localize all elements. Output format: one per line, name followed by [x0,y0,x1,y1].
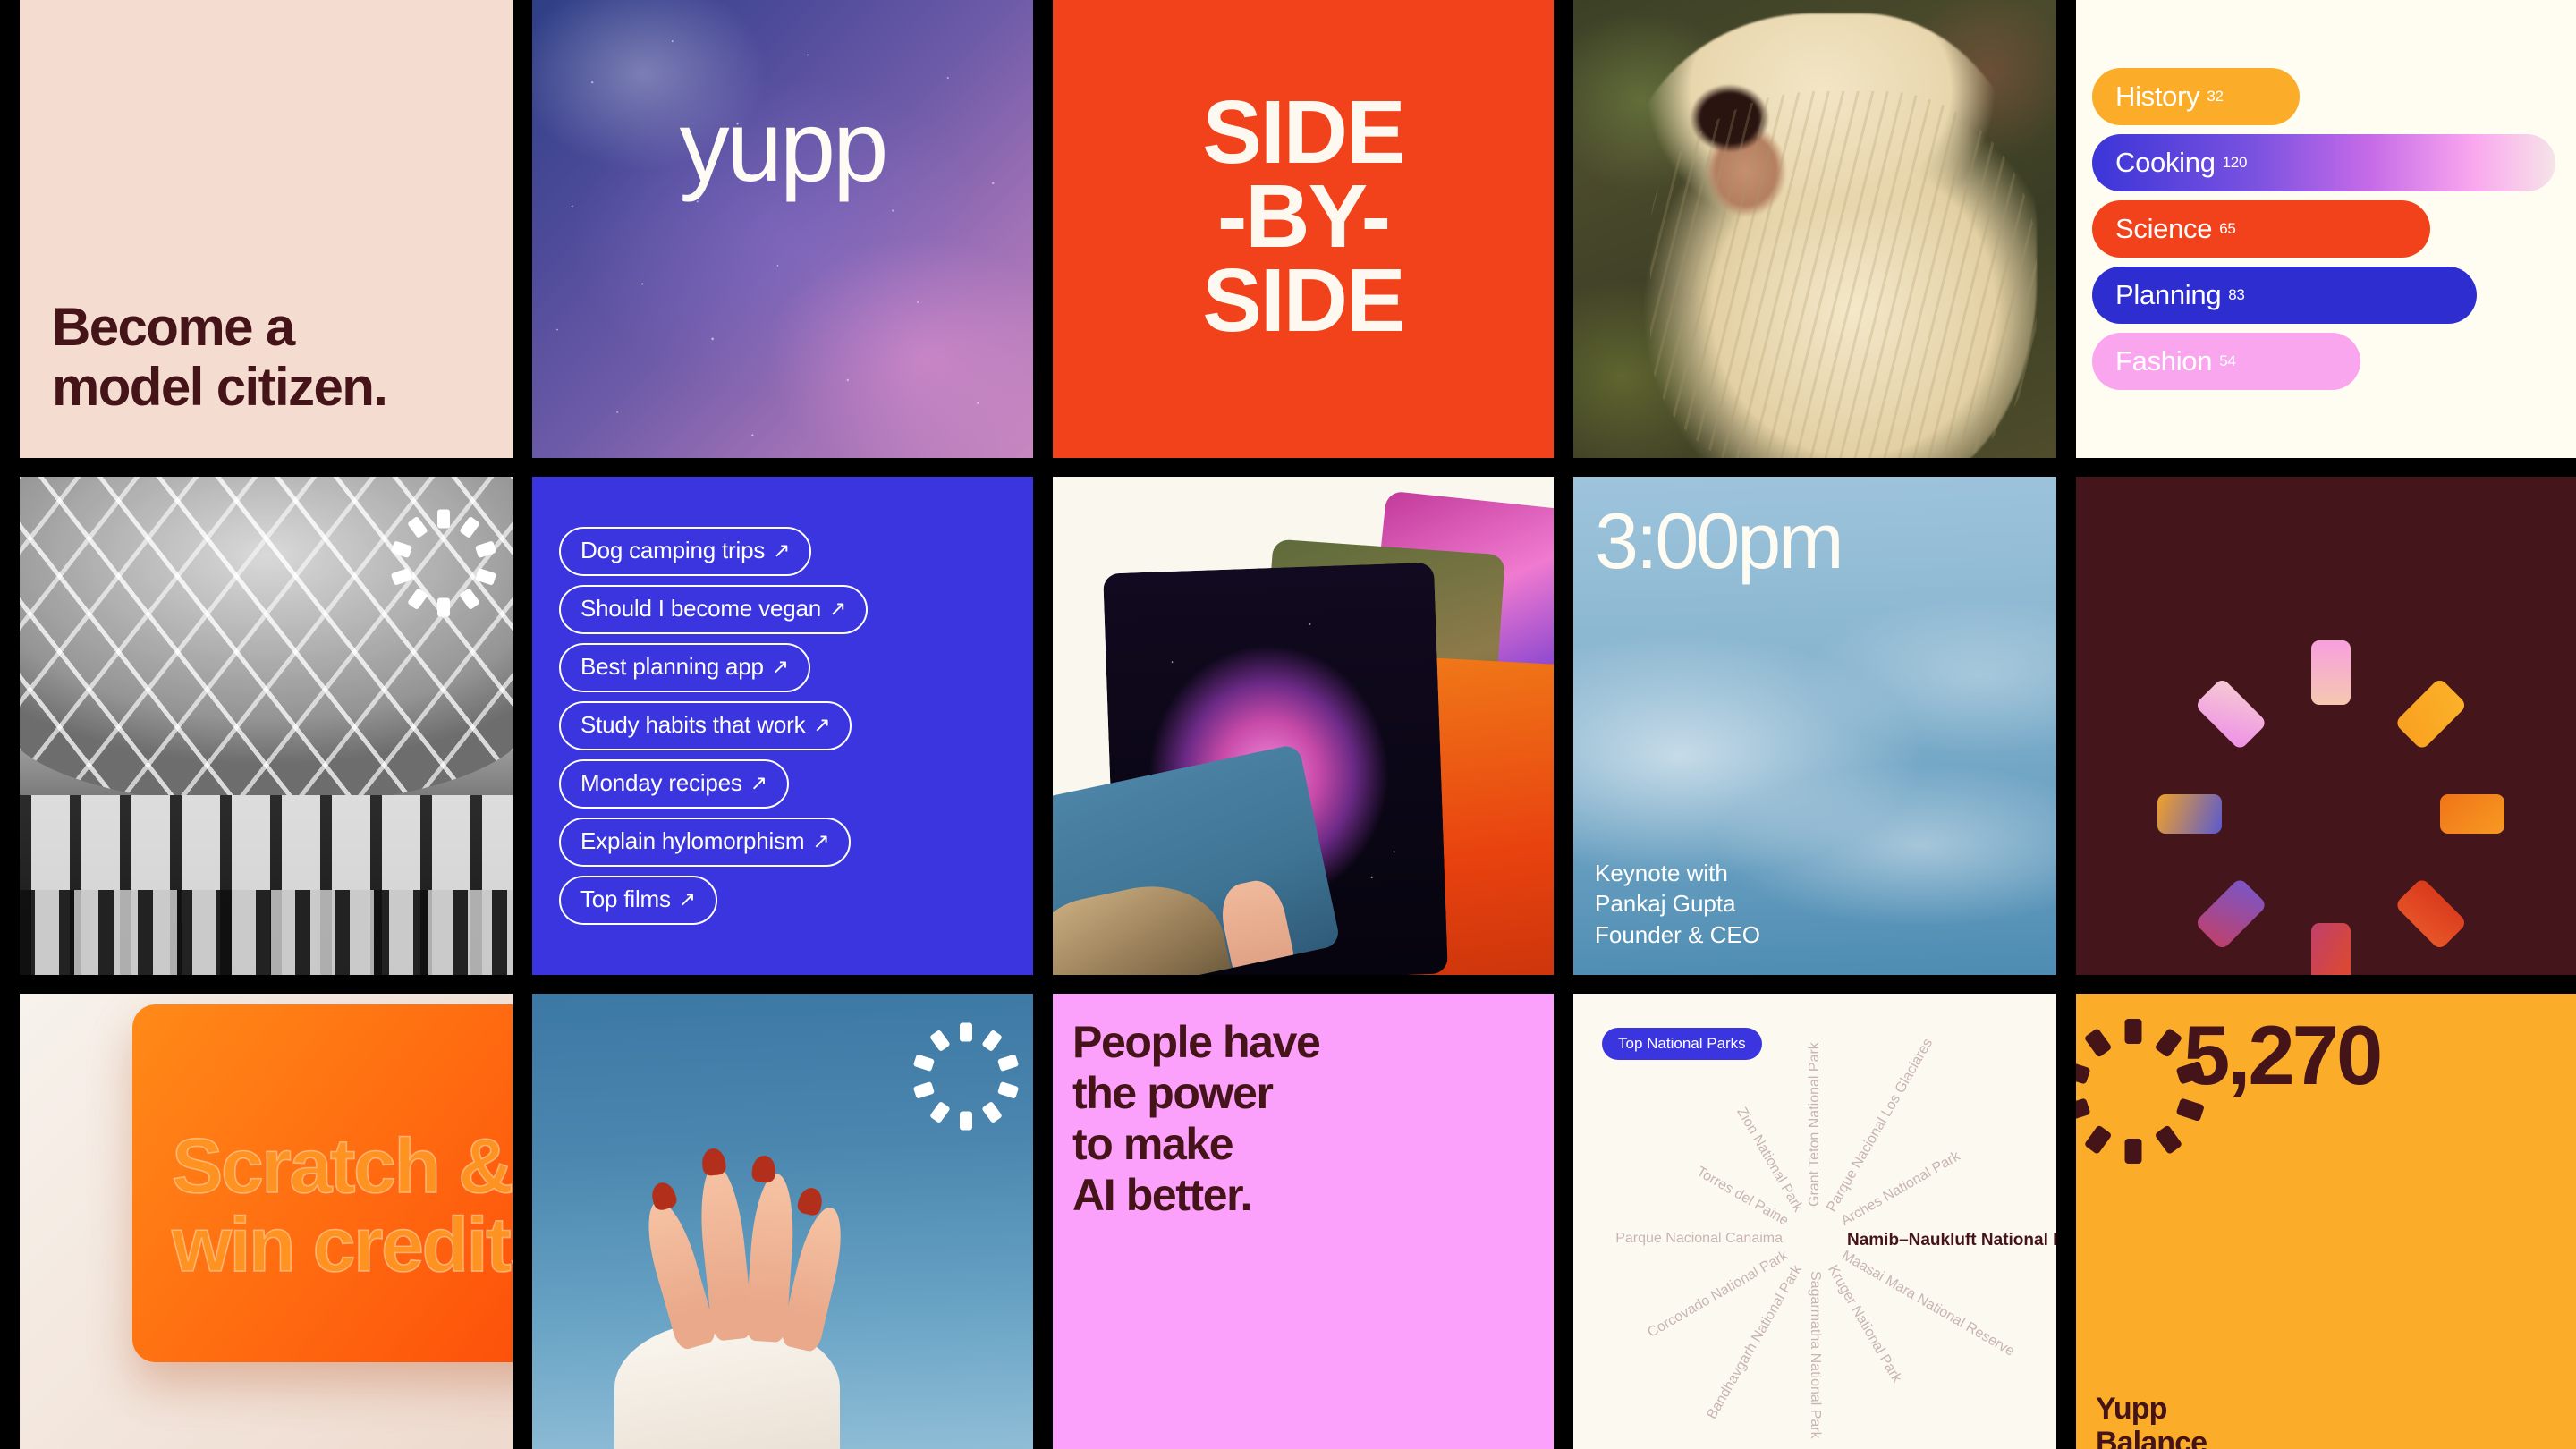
sunburst-petal [2084,1124,2113,1155]
category-pill-history[interactable]: History32 [2092,68,2300,125]
park-label: Grant Teton National Park [1807,1042,1823,1207]
scratch-tile[interactable]: Scratch & win credits [132,1004,513,1362]
sunburst-petal [2076,1097,2091,1122]
balance-row: 5,270 [2096,1013,2380,1097]
sunburst-petal [960,1112,972,1131]
card-yupp-galaxy[interactable]: yupp [532,0,1033,458]
lower-arcade [20,890,513,975]
side-by-side-stack: SIDE -BY- SIDE [1202,90,1403,343]
category-pill-fashion[interactable]: Fashion54 [2092,333,2360,390]
gradient-petal [2394,877,2468,950]
arrow-up-right-icon: ↗ [829,598,846,619]
gradient-petal [2194,877,2267,950]
gradient-petal [2194,677,2267,750]
card-yupp-balance[interactable]: 5,270 Yupp Balance [2076,994,2576,1449]
gradient-petal [2311,640,2351,705]
sunburst-petal [913,1081,935,1099]
sunburst-petal [981,1030,1003,1052]
category-count: 83 [2228,286,2244,304]
nail [751,1155,776,1183]
card-model-citizen[interactable]: Become a model citizen. [20,0,513,458]
robe-folds [1650,91,2037,458]
card-gradient-burst[interactable] [2076,477,2576,975]
nail [701,1148,727,1177]
suggestion-chip[interactable]: Dog camping trips↗ [559,527,811,576]
gradient-petal [2394,677,2468,750]
card-power[interactable]: People have the power to make AI better. [1053,994,1554,1449]
suggestion-chip[interactable]: Best planning app↗ [559,643,810,692]
category-count: 54 [2219,352,2235,370]
sunburst-icon [416,509,471,564]
power-headline: People have the power to make AI better. [1072,1017,1539,1221]
sunburst-petal [2154,1028,2182,1058]
scratch-headline: Scratch & win credits [172,1128,513,1284]
gradient-petal [2311,923,2351,976]
park-label: Parque Nacional Los Glaciares [1824,1036,1936,1215]
arrow-up-right-icon: ↗ [679,889,696,910]
suggestion-chip[interactable]: Should I become vegan↗ [559,585,868,634]
card-painting[interactable] [1573,0,2056,458]
sbs-line-2: -BY- [1202,174,1403,258]
suggestion-label: Should I become vegan [580,595,821,623]
card-national-parks[interactable]: Top National Parks Namib–Naukluft Nation… [1573,994,2056,1449]
keynote-meta: Keynote with Pankaj Gupta Founder & CEO [1595,858,1760,950]
card-keynote[interactable]: 3:00pm Keynote with Pankaj Gupta Founder… [1573,477,2056,975]
sunburst-petal [960,1023,972,1042]
sunburst-petal [981,1101,1003,1123]
yupp-wordmark: yupp [532,97,1033,197]
star-field [532,0,1033,458]
category-label: Fashion [2115,345,2212,377]
sbs-line-1: SIDE [1202,90,1403,174]
balance-amount: 5,270 [2183,1013,2380,1097]
stack-panel-front [1053,743,1341,975]
sunburst-petal [929,1101,951,1123]
sunburst-icon [938,1022,994,1078]
sunburst-petal [2076,1061,2091,1085]
suggestion-label: Top films [580,885,671,913]
rock-shape [1053,872,1233,975]
suggestion-chip[interactable]: Top films↗ [559,876,717,925]
suggestion-chip[interactable]: Study habits that work↗ [559,701,852,750]
arrow-up-right-icon: ↗ [773,540,790,561]
card-scratch[interactable]: Scratch & win credits [20,994,513,1449]
category-pill-planning[interactable]: Planning83 [2092,267,2477,324]
category-label: Planning [2115,279,2221,311]
yupp-sunburst-icon [2096,1018,2171,1093]
sunburst-petal [437,510,450,529]
suggestion-chip[interactable]: Explain hylomorphism↗ [559,818,851,867]
category-count: 65 [2219,220,2235,238]
arrow-up-right-icon: ↗ [750,773,767,793]
park-label: Namib–Naukluft National Park [1847,1231,2056,1250]
card-categories: History32 Cooking120 Science65 Planning8… [2076,0,2576,458]
gradient-petal [2440,794,2504,834]
gradient-petal [2157,794,2222,834]
suggestion-label: Dog camping trips [580,537,765,564]
keynote-time: 3:00pm [1595,502,1842,580]
category-label: History [2115,80,2199,113]
gradient-sunburst-icon [2241,637,2420,816]
category-pill-science[interactable]: Science65 [2092,200,2430,258]
sunburst-petal [2125,1019,2142,1044]
suggestion-label: Monday recipes [580,769,742,797]
park-label: Parque Nacional Canaima [1615,1231,1783,1247]
sbs-line-3: SIDE [1202,258,1403,343]
suggestion-label: Study habits that work [580,711,805,739]
card-hands[interactable] [532,994,1033,1449]
category-pill-cooking[interactable]: Cooking120 [2092,134,2555,191]
category-count: 32 [2207,88,2223,106]
sunburst-petal [913,1054,935,1072]
sunburst-petal [437,598,450,617]
category-label: Cooking [2115,147,2216,179]
arrow-up-right-icon: ↗ [813,715,830,735]
arrow-up-right-icon: ↗ [772,657,789,677]
sunburst-petal [2084,1028,2113,1058]
card-suggestions: Dog camping trips↗ Should I become vegan… [532,477,1033,975]
card-side-by-side[interactable]: SIDE -BY- SIDE [1053,0,1554,458]
balance-caption: Yupp Balance [2096,1392,2207,1449]
sunburst-petal [997,1054,1019,1072]
sunburst-petal [2154,1124,2182,1155]
suggestion-label: Best planning app [580,653,764,681]
sunburst-petal [2125,1139,2142,1164]
sunburst-petal [997,1081,1019,1099]
suggestion-label: Explain hylomorphism [580,827,804,855]
card-device-stack[interactable] [1053,477,1554,975]
suggestion-chip[interactable]: Monday recipes↗ [559,759,789,809]
card-grid: Become a model citizen. yupp SIDE -BY- S… [0,0,2576,1449]
card-architecture[interactable] [20,477,513,975]
arrow-up-right-icon: ↗ [812,831,829,852]
category-label: Science [2115,213,2212,245]
parks-tag[interactable]: Top National Parks [1602,1028,1762,1060]
sunburst-petal [929,1030,951,1052]
model-citizen-headline: Become a model citizen. [52,297,495,417]
category-count: 120 [2223,154,2247,172]
park-label: Sagarmatha National Park [1807,1271,1823,1439]
